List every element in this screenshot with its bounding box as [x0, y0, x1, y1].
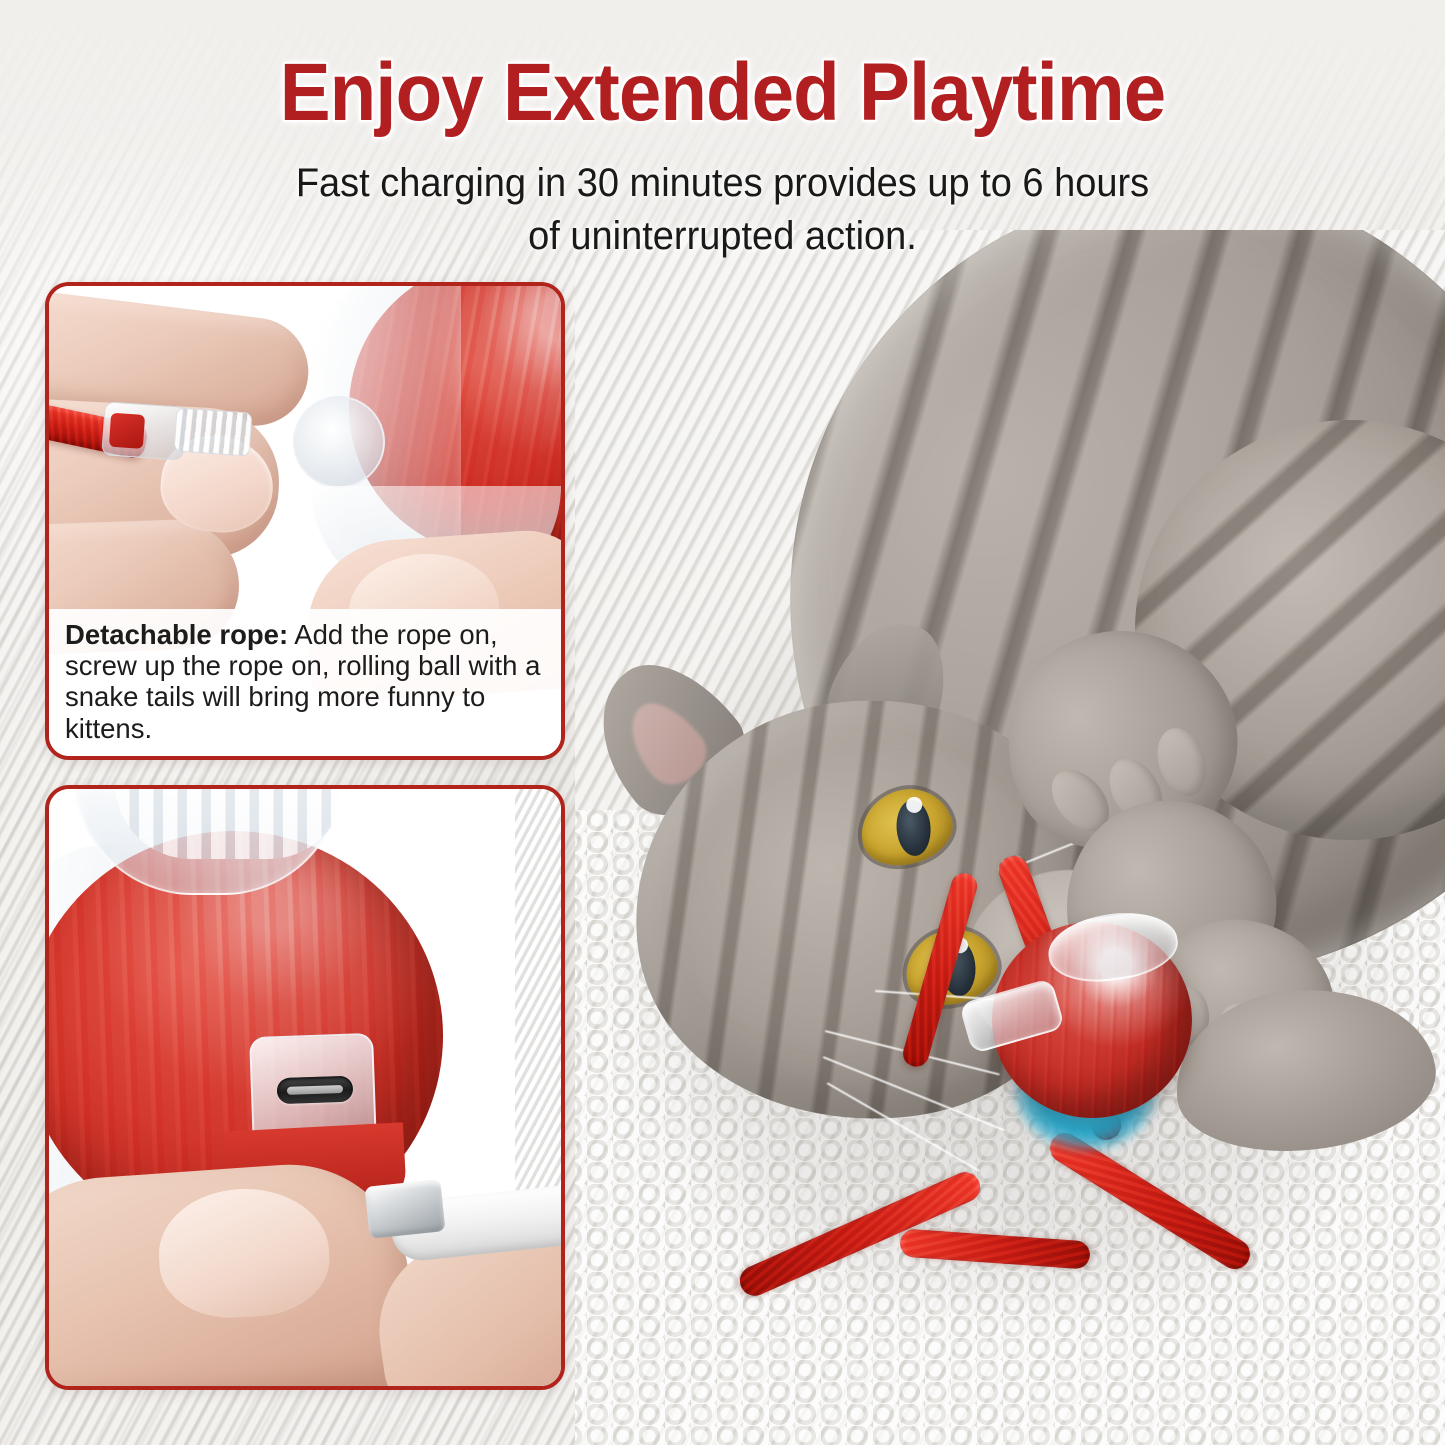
subtitle-line-1: Fast charging in 30 minutes provides up …	[36, 157, 1409, 210]
page-title: Enjoy Extended Playtime	[51, 54, 1395, 133]
page-subtitle: Fast charging in 30 minutes provides up …	[36, 157, 1409, 263]
panel-caption: Detachable rope: Add the rope on, screw …	[49, 609, 561, 756]
header: Enjoy Extended Playtime Fast charging in…	[0, 0, 1445, 262]
rope-core	[109, 413, 145, 449]
usb-c-charging-photo	[49, 789, 561, 1386]
screw-thread	[174, 407, 253, 456]
infographic-canvas: Enjoy Extended Playtime Fast charging in…	[0, 0, 1445, 1445]
usb-c-plug-icon	[364, 1179, 445, 1239]
detail-panel-usb-c-charging	[45, 785, 565, 1390]
subtitle-line-2: of uninterrupted action.	[36, 210, 1409, 263]
usb-c-port-icon	[277, 1076, 354, 1105]
cap-slats	[115, 789, 345, 859]
usb-c-tongue	[287, 1085, 343, 1095]
caption-label: Detachable rope:	[65, 619, 288, 650]
ball-toy	[970, 920, 1210, 1150]
rope-socket	[293, 396, 385, 488]
main-product-photo	[575, 230, 1445, 1445]
detail-panel-detachable-rope: Detachable rope: Add the rope on, screw …	[45, 282, 565, 760]
